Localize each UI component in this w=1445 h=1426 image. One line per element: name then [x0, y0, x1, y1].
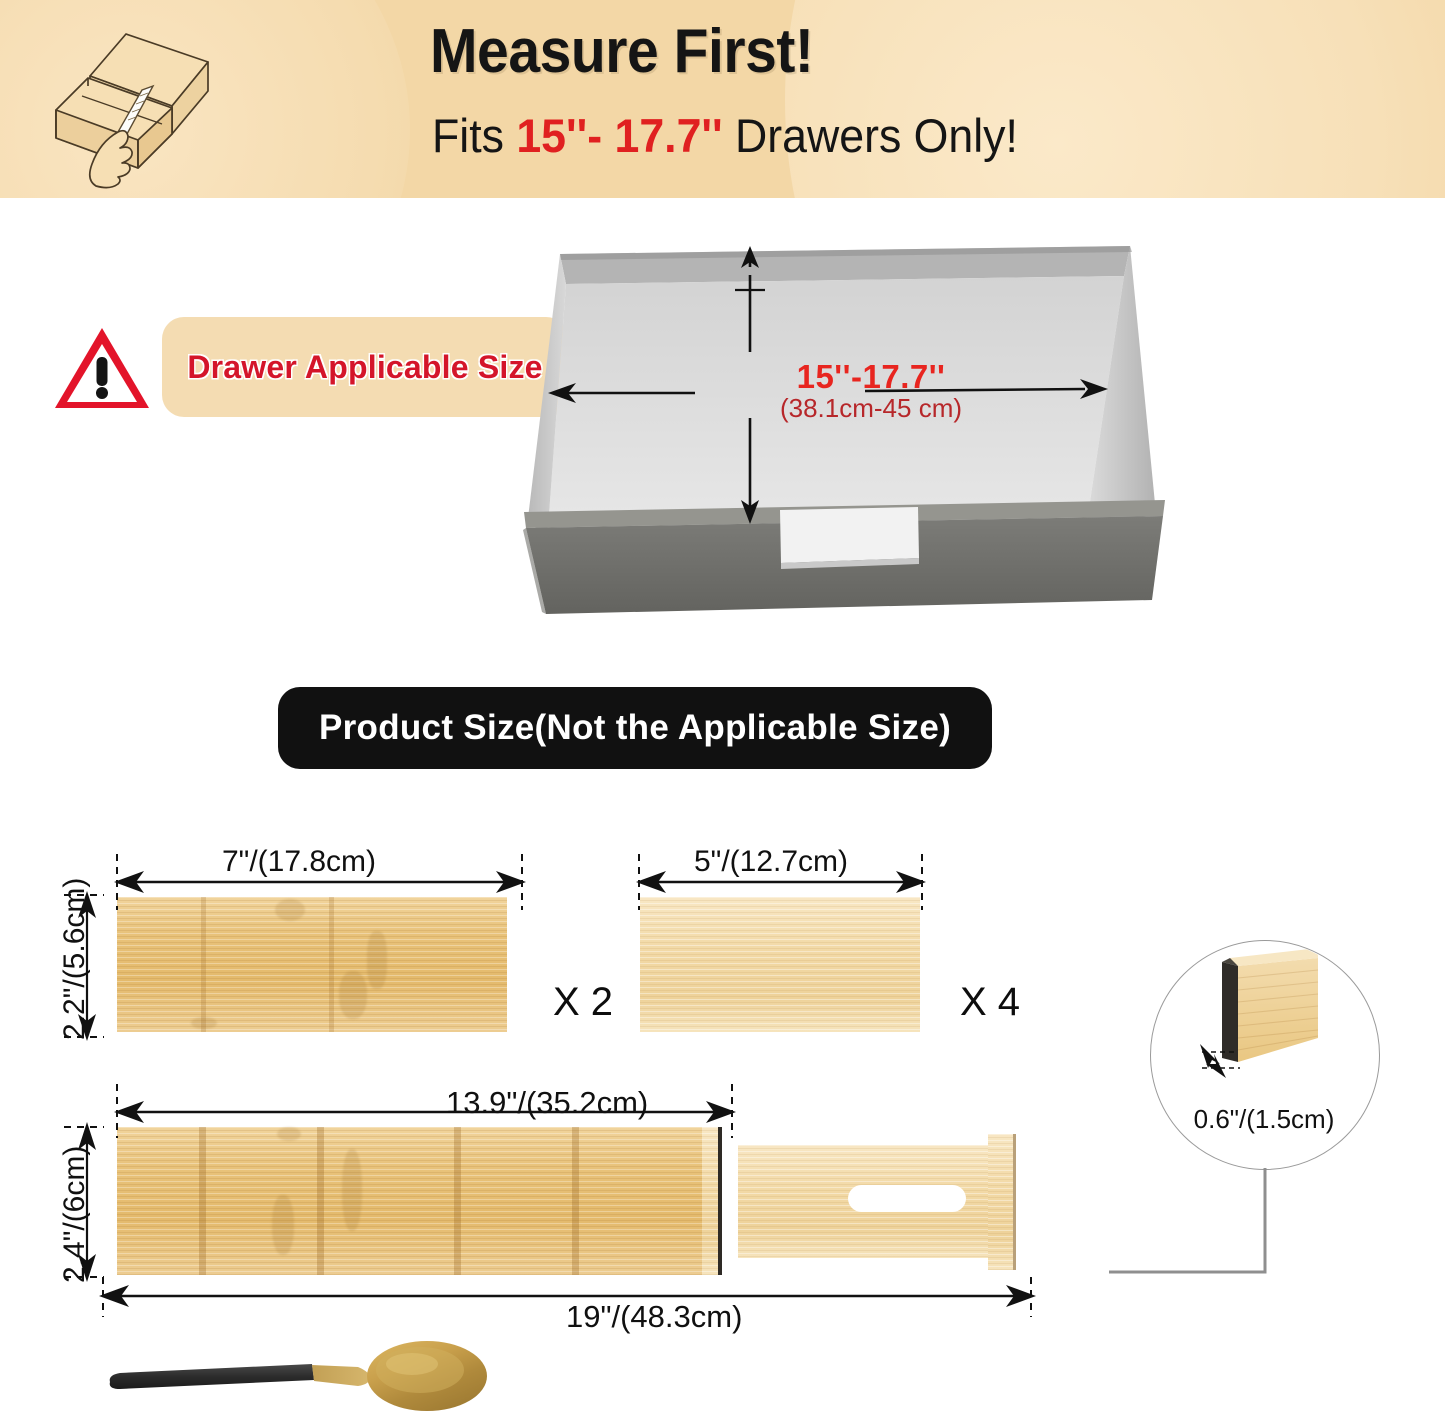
- product-size-banner: Product Size(Not the Applicable Size): [278, 687, 992, 769]
- header-banner: Measure First! Fits 15''- 17.7'' Drawers…: [0, 0, 1445, 198]
- divider-arm-endcap: [988, 1134, 1016, 1270]
- infographic-canvas: Measure First! Fits 15''- 17.7'' Drawers…: [0, 0, 1445, 1426]
- drawer-dimension-inches: 15''-17.7'': [742, 358, 1000, 396]
- page-title: Measure First!: [430, 16, 813, 87]
- subtitle-suffix: Drawers Only!: [723, 109, 1018, 162]
- edge-thickness-detail: 0.6"/(1.5cm): [1150, 940, 1380, 1170]
- divider-main-body: [117, 1127, 717, 1275]
- drawer-dimension-cm: (38.1cm-45 cm): [740, 393, 1002, 424]
- divider-total-width-label: 19"/(48.3cm): [566, 1299, 742, 1335]
- gray-drawer-illustration: [520, 228, 1170, 628]
- subtitle-prefix: Fits: [432, 109, 516, 162]
- warning-label: Drawer Applicable Size: [162, 317, 568, 417]
- warning-pill: Drawer Applicable Size: [162, 317, 568, 417]
- panel-7in-height-label: 2.2"/(5.6cm): [58, 878, 92, 1040]
- divider-adjustment-slot: [848, 1185, 966, 1212]
- subtitle-size-range: 15''- 17.7'': [516, 109, 722, 162]
- callout-leader-line: [1105, 1168, 1275, 1283]
- divider-arm-endcap-edge: [1013, 1134, 1016, 1270]
- divider-body-width-label: 13.9"/(35.2cm): [446, 1085, 648, 1121]
- panel-7in-width-label: 7"/(17.8cm): [222, 845, 376, 879]
- warning-triangle-icon: [52, 324, 152, 412]
- bamboo-panel-5in: [640, 897, 920, 1032]
- panel-5in-width-label: 5"/(12.7cm): [694, 845, 848, 879]
- panel-7in-quantity: X 2: [553, 980, 613, 1025]
- panel-5in-quantity: X 4: [960, 980, 1020, 1025]
- divider-dark-edge: [718, 1127, 722, 1275]
- header-text-group: Measure First! Fits 15''- 17.7'' Drawers…: [300, 0, 1420, 198]
- bamboo-panel-7in: [117, 897, 507, 1032]
- drawer-measuring-tape-illustration: [22, 14, 292, 192]
- header-subtitle: Fits 15''- 17.7'' Drawers Only!: [432, 108, 1018, 163]
- edge-thickness-label: 0.6"/(1.5cm): [1156, 1104, 1372, 1135]
- gold-spoon-scale-reference: [90, 1340, 510, 1420]
- product-size-banner-label: Product Size(Not the Applicable Size): [278, 687, 992, 769]
- drawer-applicable-size-badge: Drawer Applicable Size: [52, 312, 572, 424]
- divider-height-label: 2.4"/(6cm): [58, 1146, 92, 1283]
